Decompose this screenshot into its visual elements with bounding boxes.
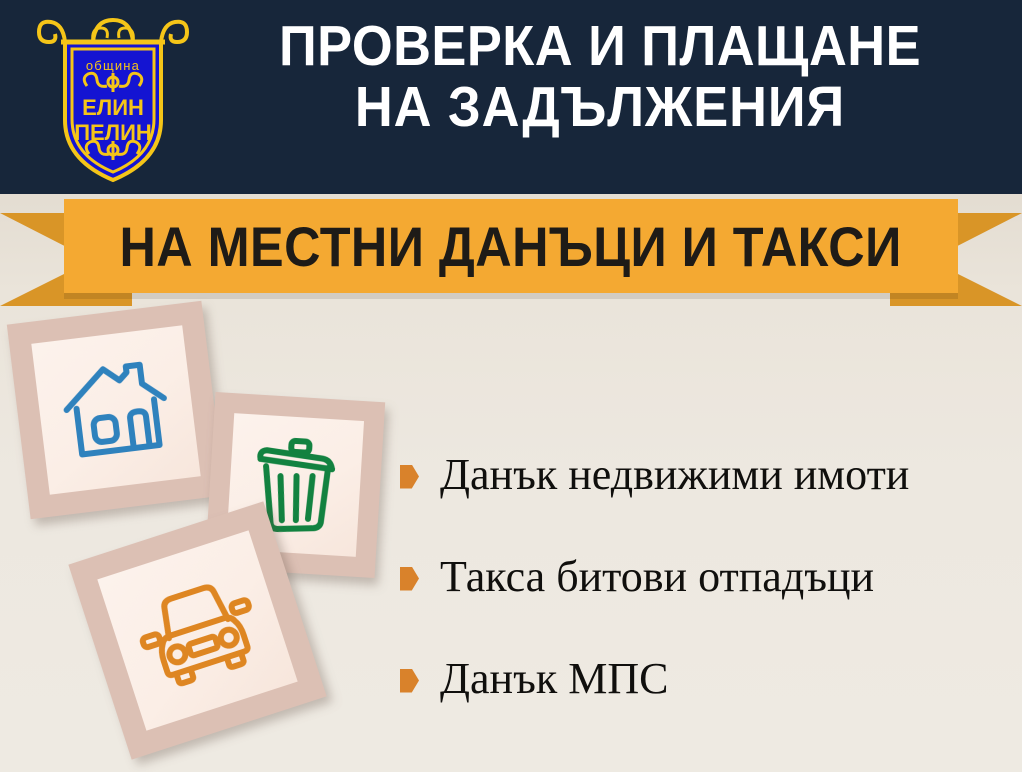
- arrow-bullet-icon: [400, 465, 419, 489]
- ribbon-text: НА МЕСТНИ ДАНЪЦИ И ТАКСИ: [120, 214, 902, 279]
- list-item[interactable]: Данък МПС: [400, 628, 1010, 730]
- property-stamp: [7, 301, 225, 519]
- crest-line-mid: ЕЛИН: [82, 95, 144, 120]
- list-item[interactable]: Такса битови отпадъци: [400, 526, 1010, 628]
- poster-title: ПРОВЕРКА И ПЛАЩАНЕ НА ЗАДЪЛЖЕНИЯ: [190, 16, 1010, 138]
- car-icon: [126, 566, 270, 694]
- list-item-label: Данък МПС: [440, 657, 668, 701]
- subtitle-ribbon: НА МЕСТНИ ДАНЪЦИ И ТАКСИ: [0, 186, 1022, 316]
- crest-line-top: община: [86, 58, 140, 73]
- tax-type-list: Данък недвижими имоти Такса битови отпад…: [400, 424, 1010, 730]
- list-item-label: Данък недвижими имоти: [440, 453, 909, 497]
- arrow-bullet-icon: [400, 567, 419, 591]
- ribbon-band: НА МЕСТНИ ДАНЪЦИ И ТАКСИ: [64, 199, 958, 293]
- stamp-face: [31, 325, 200, 494]
- poster-root: община ЕЛИН ПЕЛИН: [0, 0, 1022, 772]
- poster-header: община ЕЛИН ПЕЛИН: [0, 0, 1022, 194]
- title-line-2: НА ЗАДЪЛЖЕНИЯ: [223, 77, 977, 138]
- arrow-bullet-icon: [400, 669, 419, 693]
- title-line-1: ПРОВЕРКА И ПЛАЩАНЕ: [223, 16, 977, 77]
- stamp-collage: [0, 300, 420, 770]
- house-icon: [55, 352, 177, 469]
- municipality-crest: община ЕЛИН ПЕЛИН: [33, 8, 193, 188]
- list-item-label: Такса битови отпадъци: [440, 555, 874, 599]
- list-item[interactable]: Данък недвижими имоти: [400, 424, 1010, 526]
